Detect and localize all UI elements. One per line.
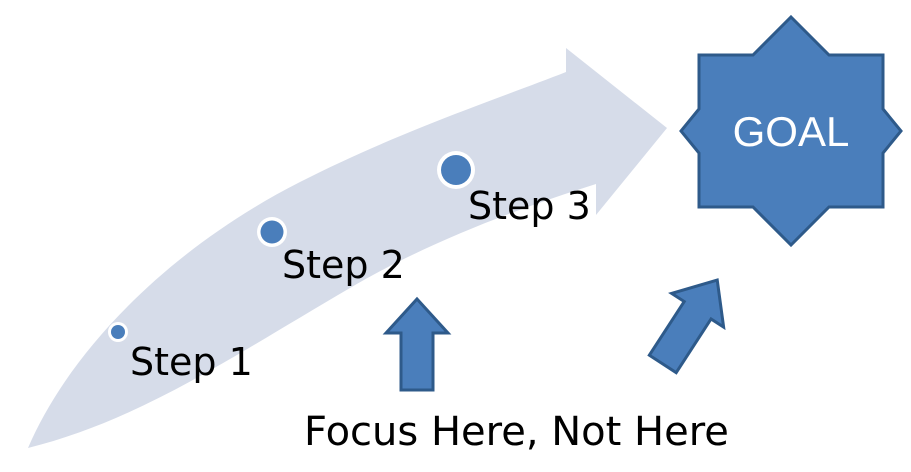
goal-label: GOAL xyxy=(733,108,850,155)
step-3-marker-dot xyxy=(441,155,471,185)
step-1-marker-dot xyxy=(111,325,125,339)
step-2-label: Step 2 xyxy=(282,243,405,287)
focus-here-arrow[interactable] xyxy=(386,299,448,390)
not-here-arrow[interactable] xyxy=(637,263,743,381)
step-1-label: Step 1 xyxy=(130,340,253,384)
diagram-canvas: Step 1 Step 2 Step 3 GOAL Focus Here, No… xyxy=(0,0,911,472)
goal-star[interactable]: GOAL xyxy=(681,17,901,245)
steps-to-goal-diagram: Step 1 Step 2 Step 3 GOAL Focus Here, No… xyxy=(0,0,911,472)
focus-here-arrow-shape xyxy=(386,299,448,390)
step-3-label: Step 3 xyxy=(468,184,591,228)
step-2-marker-dot xyxy=(261,221,284,244)
caption-text: Focus Here, Not Here xyxy=(304,409,729,455)
not-here-arrow-shape xyxy=(637,263,743,381)
